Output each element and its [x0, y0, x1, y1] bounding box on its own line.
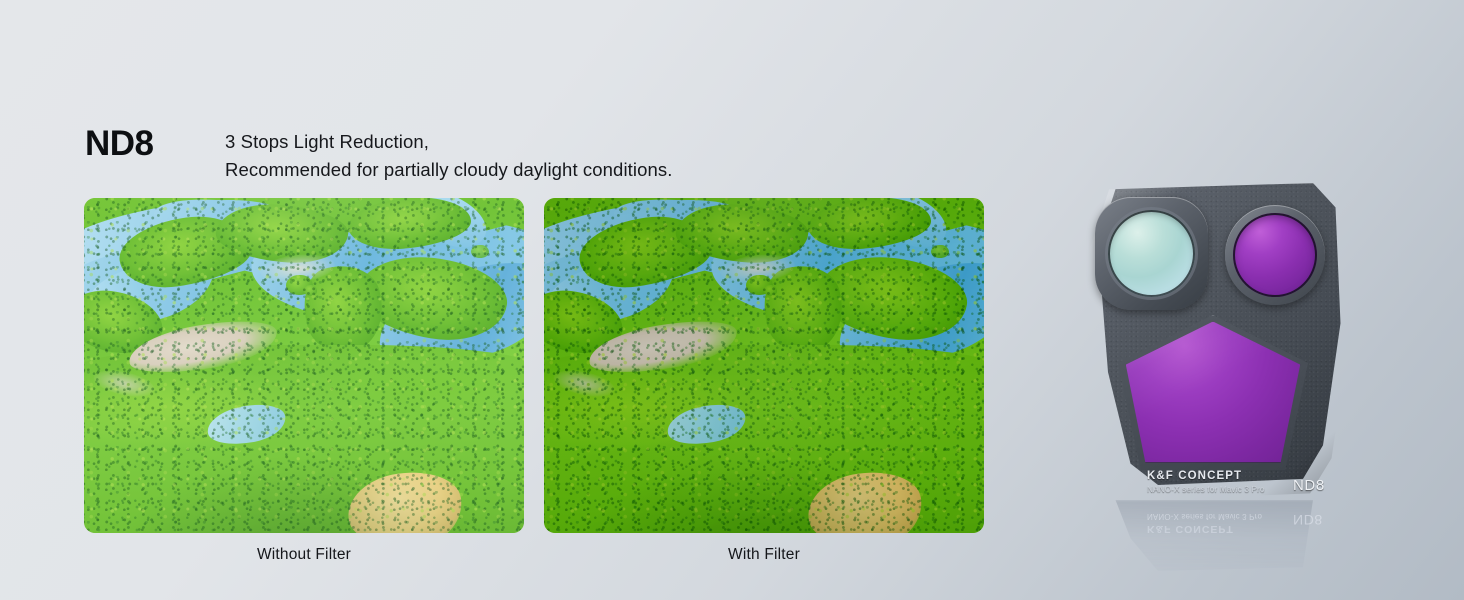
comparison-photo-with-filter	[544, 198, 984, 533]
nd8-filter-product: K&F CONCEPT NANO-X series for Mavic 3 Pr…	[1085, 183, 1353, 503]
caption-without-filter: Without Filter	[84, 546, 524, 564]
series-engraving: NANO-X series for Mavic 3 Pro	[1147, 485, 1265, 494]
comparison-photo-without-filter	[84, 198, 524, 533]
description-line-2: Recommended for partially cloudy dayligh…	[225, 156, 672, 184]
nd-marking: ND8	[1293, 477, 1325, 494]
reflection-brand-text: K&F CONCEPT	[1147, 523, 1234, 535]
brand-engraving: K&F CONCEPT	[1147, 470, 1242, 482]
product-description: 3 Stops Light Reduction, Recommended for…	[225, 128, 672, 184]
purple-lens-housing	[1225, 205, 1325, 305]
scene-shading	[84, 198, 524, 533]
teal-lens	[1108, 210, 1195, 297]
purple-circular-lens	[1233, 213, 1317, 297]
scene-shading	[544, 198, 984, 533]
aerial-mangrove-scene	[84, 198, 524, 533]
reflection-nd-text: ND8	[1293, 512, 1323, 528]
description-line-1: 3 Stops Light Reduction,	[225, 128, 672, 156]
page-title: ND8	[85, 126, 154, 161]
caption-with-filter: With Filter	[544, 546, 984, 564]
reflection-series-text: NANO-X series for Mavic 3 Pro	[1147, 512, 1262, 521]
teal-lens-housing	[1095, 197, 1208, 310]
aerial-mangrove-scene	[544, 198, 984, 533]
